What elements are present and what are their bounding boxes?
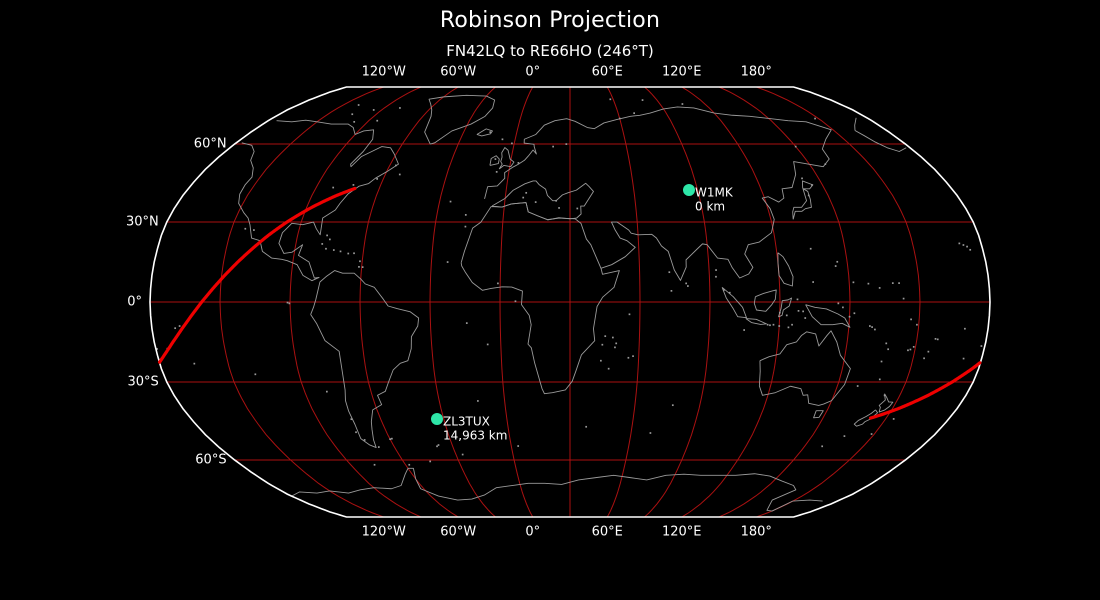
island-speck — [879, 379, 881, 381]
island-speck — [910, 319, 912, 321]
lat-tick-left: 30°N — [126, 215, 159, 230]
island-speck — [838, 303, 840, 305]
coastline — [754, 290, 776, 311]
island-speck — [179, 325, 181, 327]
island-speck — [462, 454, 464, 456]
island-speck — [174, 327, 176, 329]
island-speck — [518, 162, 520, 164]
island-speck — [928, 351, 930, 353]
island-speck — [350, 418, 352, 420]
island-speck — [614, 347, 616, 349]
island-speck — [857, 385, 859, 387]
island-speck — [376, 178, 378, 180]
coastline — [425, 95, 495, 144]
island-speck — [715, 276, 717, 278]
island-speck — [359, 260, 361, 262]
island-speck — [685, 283, 687, 285]
island-speck — [358, 104, 360, 106]
island-speck — [289, 303, 291, 305]
island-speck — [496, 171, 498, 173]
island-speck — [487, 344, 489, 346]
island-speck — [854, 312, 856, 314]
island-speck — [450, 201, 452, 203]
island-speck — [254, 373, 256, 375]
coastline — [461, 203, 619, 394]
coastline — [746, 319, 767, 325]
lon-tick-top: 120°E — [662, 65, 702, 80]
island-speck — [565, 143, 567, 145]
island-speck — [552, 146, 554, 148]
island-speck — [788, 327, 790, 329]
lon-tick-bottom: 0° — [525, 525, 540, 540]
island-speck — [558, 207, 560, 209]
island-speck — [629, 313, 631, 315]
island-speck — [791, 324, 793, 326]
marker-callsign-label: ZL3TUX — [443, 415, 490, 429]
station-markers[interactable]: W1MK0 kmZL3TUX14,963 km — [431, 184, 734, 443]
lon-tick-bottom: 120°W — [362, 525, 406, 540]
island-speck — [511, 143, 513, 145]
coastline — [490, 156, 499, 166]
island-speck — [715, 269, 717, 271]
island-speck — [903, 298, 905, 300]
station-marker-zl3tux[interactable]: ZL3TUX14,963 km — [431, 413, 507, 443]
lat-tick-left: 60°N — [194, 137, 227, 152]
lat-tick-left: 60°S — [195, 452, 226, 467]
island-speck — [333, 249, 335, 251]
island-speck — [399, 107, 401, 109]
island-speck — [465, 226, 467, 228]
island-speck — [969, 249, 971, 251]
coastline-group — [156, 95, 982, 511]
island-speck — [795, 146, 797, 148]
island-speck — [797, 299, 799, 301]
island-speck — [436, 445, 438, 447]
island-speck — [668, 271, 670, 273]
island-speck — [687, 285, 689, 287]
island-speck — [923, 357, 925, 359]
island-speck — [253, 229, 255, 231]
island-speck — [963, 244, 965, 246]
island-speck — [326, 235, 328, 237]
island-speck — [326, 391, 328, 393]
lon-tick-bottom: 60°W — [440, 525, 476, 540]
island-speck — [608, 368, 610, 370]
island-speck — [963, 358, 965, 360]
island-speck — [378, 446, 380, 448]
island-speck — [447, 261, 449, 263]
island-speck — [804, 317, 806, 319]
island-speck — [364, 439, 366, 441]
island-speck — [609, 98, 611, 100]
island-speck — [743, 329, 745, 331]
robinson-map-canvas[interactable]: W1MK0 kmZL3TUX14,963 km 60°E60°E120°E120… — [0, 0, 1100, 600]
island-speck — [778, 325, 780, 327]
island-speck — [373, 109, 375, 111]
coastline — [292, 468, 796, 511]
island-speck — [351, 113, 353, 115]
island-speck — [362, 266, 364, 268]
island-speck — [376, 120, 378, 122]
island-speck — [340, 251, 342, 253]
island-speck — [966, 246, 968, 248]
path-segment — [160, 189, 355, 363]
island-speck — [723, 289, 725, 291]
island-speck — [466, 322, 468, 324]
island-speck — [502, 138, 504, 140]
lon-tick-top: 120°W — [362, 65, 406, 80]
island-speck — [802, 311, 804, 313]
island-speck — [374, 464, 376, 466]
coastline — [855, 130, 906, 151]
island-speck — [576, 208, 578, 210]
island-speck — [881, 361, 883, 363]
island-speck — [612, 337, 614, 339]
island-speck — [916, 324, 918, 326]
island-speck — [885, 343, 887, 345]
island-speck — [353, 121, 355, 123]
island-speck — [353, 252, 355, 254]
island-speck — [879, 287, 881, 289]
island-speck — [389, 438, 391, 440]
island-speck — [672, 404, 674, 406]
island-speck — [767, 324, 769, 326]
island-speck — [964, 328, 966, 330]
island-speck — [585, 426, 587, 428]
island-speck — [729, 292, 731, 294]
island-speck — [814, 118, 816, 120]
island-speck — [395, 165, 397, 167]
island-speck — [633, 112, 635, 114]
island-speck — [869, 325, 871, 327]
island-speck — [604, 335, 606, 337]
island-speck — [887, 348, 889, 350]
island-speck — [555, 200, 557, 202]
island-speck — [844, 435, 846, 437]
island-speck — [836, 261, 838, 263]
island-speck — [525, 192, 527, 194]
island-speck — [347, 253, 349, 255]
island-speck — [332, 187, 334, 189]
island-speck — [321, 243, 323, 245]
coastline — [793, 181, 813, 219]
coastline — [492, 181, 593, 220]
lon-tick-top: 60°W — [440, 65, 476, 80]
island-speck — [600, 360, 602, 362]
island-speck — [786, 315, 788, 317]
island-speck — [773, 324, 775, 326]
island-speck — [650, 432, 652, 434]
island-speck — [801, 178, 803, 180]
island-speck — [853, 281, 855, 283]
island-speck — [779, 312, 781, 314]
island-speck — [429, 461, 431, 463]
map-figure: Robinson Projection FN42LQ to RE66HO (24… — [0, 0, 1100, 600]
island-speck — [871, 433, 873, 435]
coastline — [778, 253, 793, 286]
island-speck — [619, 118, 621, 120]
island-speck — [849, 316, 851, 318]
marker-distance-label: 0 km — [695, 200, 725, 214]
island-speck — [874, 329, 876, 331]
island-speck — [325, 248, 327, 250]
island-speck — [824, 163, 826, 165]
island-speck — [898, 282, 900, 284]
island-speck — [812, 281, 814, 283]
lon-tick-top: 60°E — [592, 65, 623, 80]
island-speck — [798, 310, 800, 312]
island-speck — [642, 99, 644, 101]
island-speck — [391, 438, 393, 440]
island-speck — [811, 184, 813, 186]
island-speck — [193, 363, 195, 365]
island-speck — [399, 174, 401, 176]
island-speck — [907, 349, 909, 351]
island-speck — [935, 338, 937, 340]
coastline — [485, 107, 832, 280]
island-speck — [489, 131, 491, 133]
island-speck — [408, 464, 410, 466]
island-speck — [244, 228, 246, 230]
coastline — [855, 118, 856, 131]
lon-tick-bottom: 120°E — [662, 525, 702, 540]
island-speck — [937, 339, 939, 341]
island-speck — [358, 266, 360, 268]
marker-dot-icon[interactable] — [683, 184, 695, 196]
island-speck — [884, 395, 886, 397]
island-speck — [808, 195, 810, 197]
lon-tick-bottom: 60°E — [592, 525, 623, 540]
graticule-group — [150, 87, 990, 517]
coastline — [814, 411, 824, 418]
island-speck — [769, 324, 771, 326]
island-speck — [868, 283, 870, 285]
island-speck — [517, 445, 519, 447]
lat-tick-left: 0° — [127, 295, 142, 310]
path-segment — [871, 363, 980, 418]
island-speck — [495, 158, 497, 160]
island-speck — [958, 243, 960, 245]
island-speck — [821, 445, 823, 447]
station-marker-w1mk[interactable]: W1MK0 km — [683, 184, 734, 214]
coastline — [722, 287, 746, 317]
island-speck — [910, 349, 912, 351]
island-speck — [871, 326, 873, 328]
marker-dot-icon[interactable] — [431, 413, 443, 425]
island-speck — [329, 239, 331, 241]
island-speck — [535, 201, 537, 203]
island-speck — [465, 214, 467, 216]
island-speck — [522, 197, 524, 199]
island-speck — [628, 357, 630, 359]
lon-tick-bottom: 180° — [741, 525, 772, 540]
marker-callsign-label: W1MK — [695, 186, 734, 200]
lon-tick-top: 180° — [741, 65, 772, 80]
island-speck — [842, 307, 844, 309]
island-speck — [353, 184, 355, 186]
island-speck — [632, 355, 634, 357]
lat-tick-left: 30°S — [128, 374, 159, 389]
island-speck — [835, 265, 837, 267]
marker-distance-label: 14,963 km — [443, 429, 507, 443]
island-speck — [810, 248, 812, 250]
island-speck — [671, 290, 673, 292]
coastline — [759, 331, 850, 406]
island-speck — [355, 431, 357, 433]
island-speck — [893, 418, 895, 420]
island-speck — [477, 400, 479, 402]
island-speck — [601, 344, 603, 346]
island-speck — [615, 343, 617, 345]
island-speck — [682, 103, 684, 105]
island-speck — [892, 282, 894, 284]
island-speck — [981, 345, 983, 347]
lon-tick-top: 0° — [525, 65, 540, 80]
island-speck — [497, 283, 499, 285]
island-speck — [515, 300, 517, 302]
coastline — [793, 500, 823, 501]
coastline — [879, 394, 893, 412]
island-speck — [913, 346, 915, 348]
island-speck — [287, 302, 289, 304]
